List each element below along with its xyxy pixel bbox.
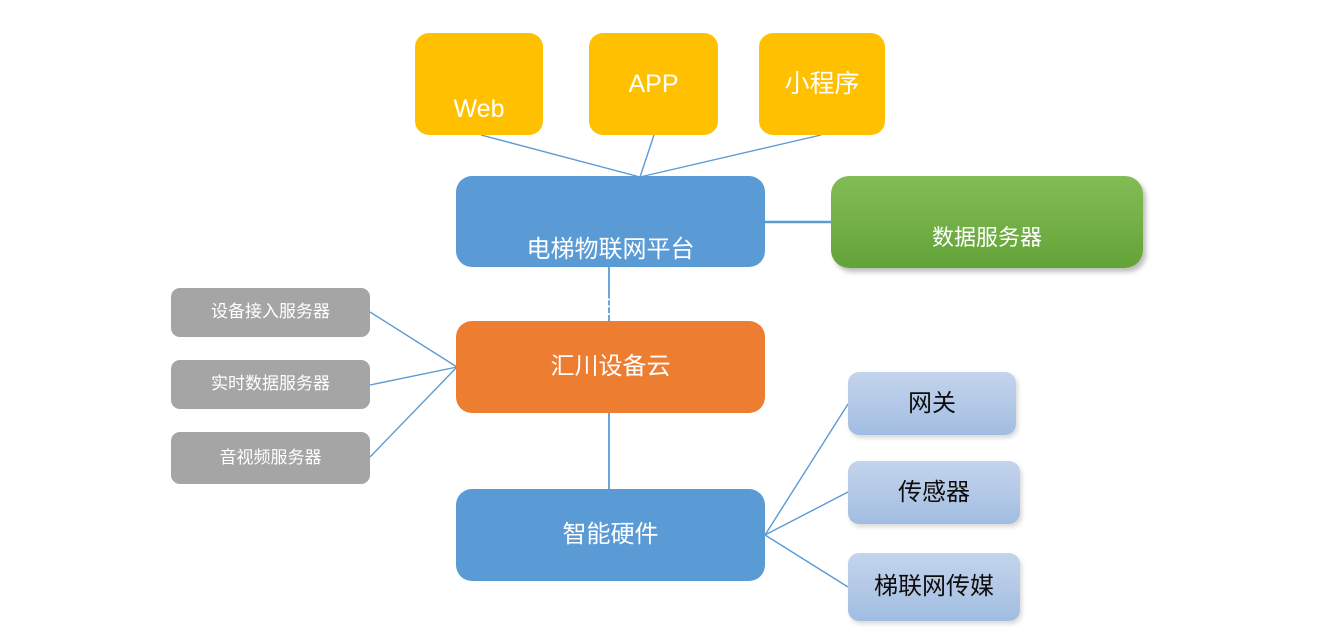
- node-edge-media[interactable]: 梯联网传媒: [848, 553, 1020, 621]
- node-device-cloud-label: 汇川设备云: [551, 352, 671, 381]
- node-web-browser-line1: Web: [415, 94, 543, 125]
- node-data-server-title: 数据服务器: [831, 225, 1143, 252]
- node-support-server-access[interactable]: 设备接入服务器: [171, 288, 370, 337]
- node-mini-program-label: 小程序: [784, 69, 859, 100]
- connector-access-server-to-cloud: [370, 312, 457, 367]
- node-ebs-platform-line2: EBS: [456, 293, 765, 322]
- connector-app-to-ebs: [640, 135, 654, 177]
- node-mini-program[interactable]: 小程序: [759, 33, 885, 135]
- node-smart-hardware-label: 智能硬件: [563, 520, 659, 549]
- node-edge-gateway[interactable]: 网关: [848, 372, 1016, 435]
- connector-hardware-to-sensor: [765, 492, 848, 535]
- node-ebs-platform-line1: 电梯物联网平台: [456, 235, 765, 264]
- node-support-server-av-label: 音视频服务器: [220, 448, 322, 469]
- connector-miniprogram-to-ebs: [640, 135, 821, 177]
- node-edge-sensor-label: 传感器: [898, 478, 970, 507]
- node-ebs-platform[interactable]: 电梯物联网平台 EBS: [456, 176, 765, 267]
- node-support-server-realtime[interactable]: 实时数据服务器: [171, 360, 370, 409]
- architecture-diagram: Web 浏览器 APP 小程序 电梯物联网平台 EBS 数据服务器 （MySQL…: [0, 0, 1320, 634]
- node-edge-sensor[interactable]: 传感器: [848, 461, 1020, 524]
- node-data-server-line3: Reid's）: [831, 325, 1143, 349]
- connector-av-server-to-cloud: [370, 367, 457, 457]
- node-app[interactable]: APP: [589, 33, 718, 135]
- connector-realtime-server-to-cloud: [370, 367, 457, 385]
- node-web-browser[interactable]: Web 浏览器: [415, 33, 543, 135]
- node-device-cloud[interactable]: 汇川设备云: [456, 321, 765, 413]
- connector-hardware-to-gateway: [765, 404, 848, 535]
- node-support-server-av[interactable]: 音视频服务器: [171, 432, 370, 484]
- node-smart-hardware[interactable]: 智能硬件: [456, 489, 765, 581]
- node-data-server-line2: （MySQL、Mongo DB、: [831, 276, 1143, 300]
- connector-hardware-to-media: [765, 535, 848, 587]
- node-support-server-realtime-label: 实时数据服务器: [211, 374, 330, 395]
- node-support-server-access-label: 设备接入服务器: [211, 302, 330, 323]
- node-app-label: APP: [628, 69, 678, 100]
- node-edge-gateway-label: 网关: [908, 389, 956, 418]
- node-data-server[interactable]: 数据服务器 （MySQL、Mongo DB、 Reid's）: [831, 176, 1143, 268]
- node-edge-media-label: 梯联网传媒: [874, 572, 994, 601]
